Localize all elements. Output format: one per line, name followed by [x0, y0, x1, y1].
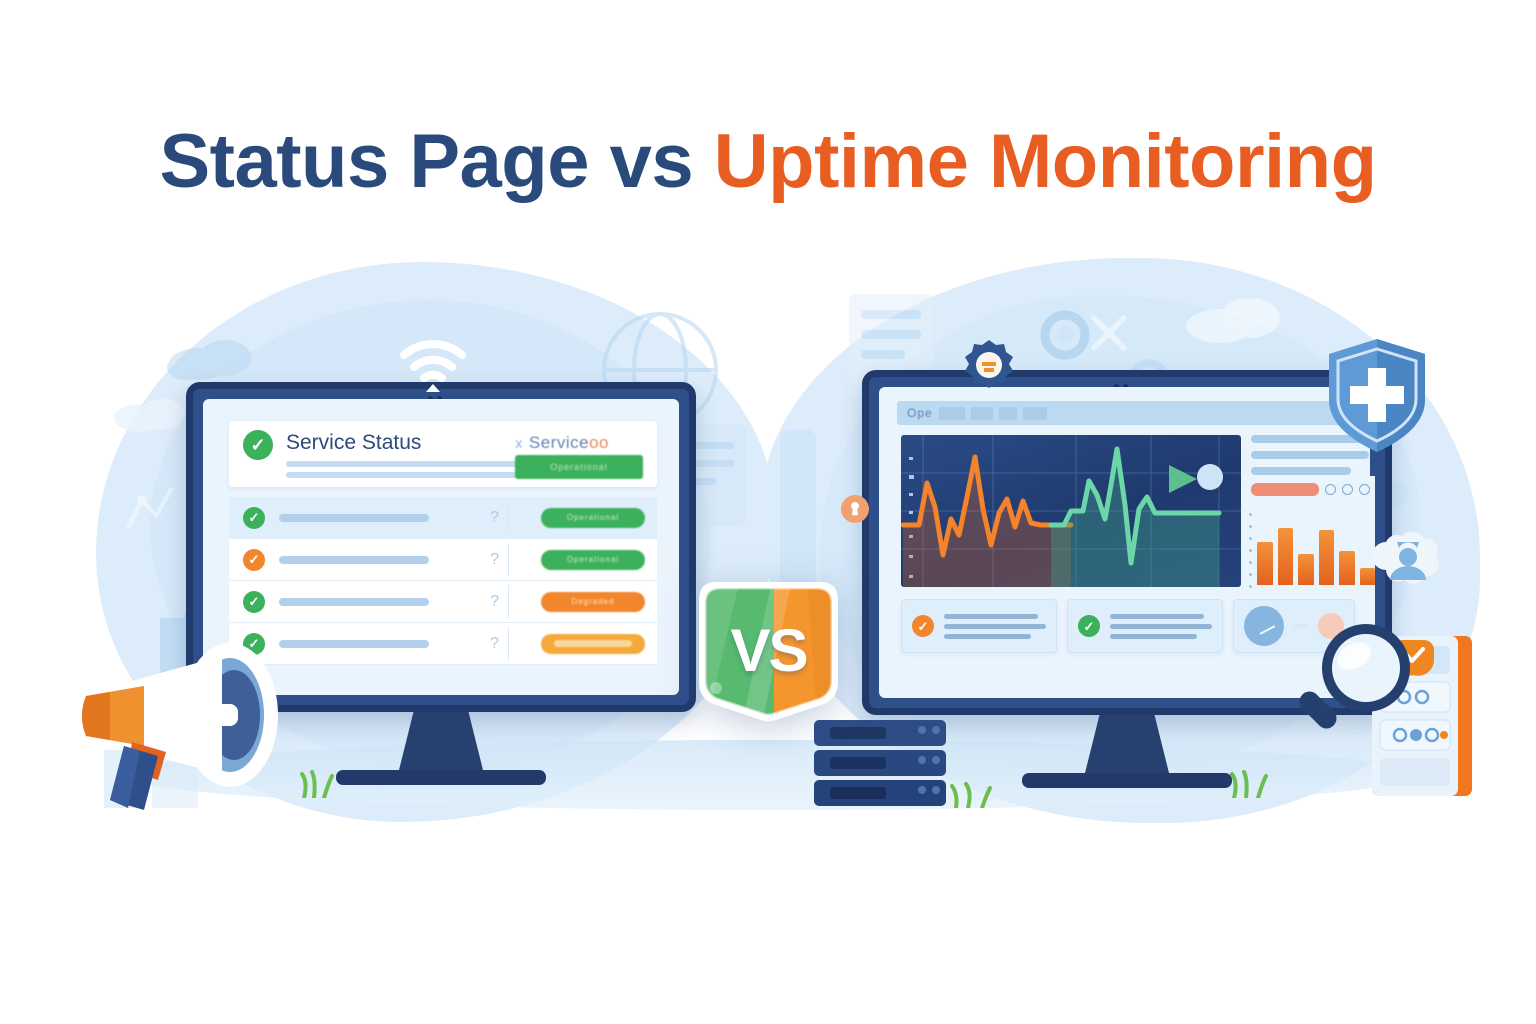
brand-logo: xServiceoo — [515, 433, 609, 453]
service-name-placeholder — [279, 514, 429, 522]
metric-card[interactable]: ✓ — [1067, 599, 1223, 653]
server-stack-icon — [810, 718, 970, 813]
vs-badge: VS — [686, 570, 851, 725]
user-cloud-icon — [1368, 528, 1448, 600]
brand-prefix: x — [515, 435, 523, 451]
bar-chart — [1257, 515, 1375, 585]
bar-chart-axis — [1249, 513, 1251, 587]
wifi-icon — [398, 338, 468, 394]
cloud-icon — [110, 390, 190, 434]
row-value: ? — [490, 593, 499, 611]
check-circle-green-icon: ✓ — [243, 591, 265, 613]
table-row[interactable]: ✓ ? Operational — [229, 539, 657, 581]
row-value: ? — [490, 509, 499, 527]
card-placeholder-lines — [944, 614, 1046, 639]
play-triangle-icon — [1169, 465, 1197, 493]
check-circle-orange-icon: ✓ — [243, 549, 265, 571]
dashboard-cards: ✓ ✓ — [901, 599, 1355, 653]
webcam-dots — [1114, 376, 1140, 381]
response-time-chart — [901, 435, 1241, 587]
monitor-base-right — [1022, 773, 1232, 788]
chart-svg — [901, 435, 1241, 587]
check-circle-green-icon: ✓ — [1078, 615, 1100, 637]
megaphone-icon — [62, 630, 312, 820]
status-dot-icon — [1197, 464, 1223, 490]
status-badge[interactable]: Operational — [541, 550, 645, 570]
shield-health-icon — [1322, 336, 1432, 476]
check-circle-green-icon: ✓ — [243, 430, 273, 460]
cloud-icon — [1180, 290, 1290, 346]
row-value: ? — [490, 551, 499, 569]
vs-label: VS — [686, 570, 851, 725]
service-name-placeholder — [279, 556, 429, 564]
topbar-label: Ope — [907, 406, 933, 420]
monitor-base-left — [336, 770, 546, 785]
row-value: ? — [490, 635, 499, 653]
status-badge[interactable]: Operational — [541, 508, 645, 528]
check-circle-green-icon: ✓ — [243, 507, 265, 529]
alert-bar — [1251, 483, 1319, 496]
page-title-accent: Uptime Monitoring — [714, 119, 1377, 204]
brand-name: Service — [529, 433, 589, 452]
illustration-stage: Status Page vs Uptime Monitoring — [0, 0, 1536, 1024]
table-row[interactable]: ✓ ? Degraded — [229, 581, 657, 623]
service-status-title: Service Status — [286, 431, 421, 455]
check-circle-orange-icon: ✓ — [912, 615, 934, 637]
grass-icon — [1228, 770, 1272, 803]
table-row[interactable]: ✓ ? Operational — [229, 497, 657, 539]
status-badge[interactable]: Degraded — [541, 592, 645, 612]
service-status-header: ✓ Service Status xServiceoo Operational — [229, 421, 657, 487]
overall-status-badge[interactable]: Operational — [515, 455, 643, 479]
lock-badge-icon — [840, 494, 870, 524]
metric-card[interactable]: ✓ — [901, 599, 1057, 653]
service-name-placeholder — [279, 598, 429, 606]
analytics-icon — [120, 480, 190, 535]
gear-badge-icon — [962, 338, 1016, 392]
page-title: Status Page vs Uptime Monitoring — [0, 118, 1536, 205]
gauge-icon — [1244, 606, 1284, 646]
page-title-primary: Status Page vs — [159, 119, 713, 204]
status-badge[interactable] — [541, 634, 645, 654]
cloud-icon — [165, 330, 260, 382]
card-placeholder-lines — [1110, 614, 1212, 639]
magnifier-icon — [1290, 614, 1420, 749]
dashboard-topbar: Ope — [897, 401, 1357, 425]
indicator-circles — [1325, 484, 1370, 495]
